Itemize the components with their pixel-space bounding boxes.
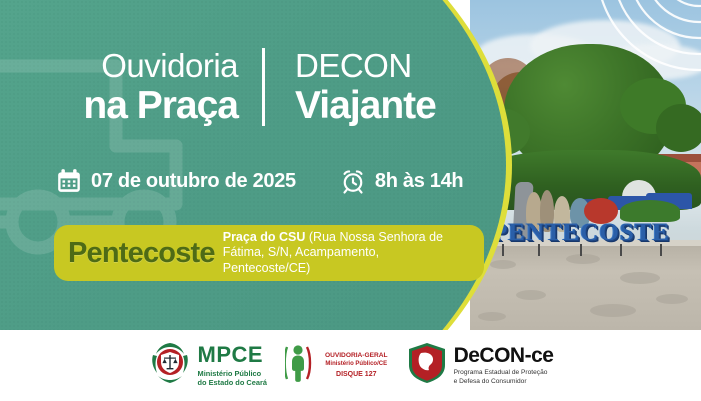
title-left-line1: Ouvidoria — [0, 49, 238, 82]
event-time-text: 8h às 14h — [375, 170, 463, 193]
decon-subtitle-line1: Programa Estadual de Proteção — [454, 369, 554, 378]
ouvidoria-logo-text: OUVIDORIA-GERAL Ministério Público/CE DI… — [325, 352, 388, 378]
calendar-icon — [56, 168, 82, 194]
title-right-line1: DECON — [295, 49, 436, 82]
ouvidoria-person-icon — [285, 343, 319, 388]
location-pill: Pentecoste Praça do CSU (Rua Nossa Senho… — [54, 225, 484, 281]
alarm-clock-icon — [340, 168, 366, 194]
ouvidoria-line3: DISQUE 127 — [325, 370, 388, 379]
ouvidoria-line2: Ministério Público/CE — [325, 361, 388, 369]
city-name: Pentecoste — [68, 237, 215, 270]
decon-ce-logo: DeCON-ce Programa Estadual de Proteção e… — [406, 341, 554, 390]
event-date: 07 de outubro de 2025 — [56, 168, 296, 194]
pentecoste-plaza-sign: PENTECOSTE — [492, 218, 682, 248]
mpce-subtitle-line2: do Estado do Ceará — [198, 378, 267, 387]
title-left-line2: na Praça — [0, 86, 238, 125]
mpce-subtitle-line1: Ministério Público — [198, 369, 267, 378]
title-block-left: Ouvidoria na Praça — [0, 49, 238, 125]
mpce-name: MPCE — [198, 342, 264, 367]
venue-address: Praça do CSU (Rua Nossa Senhora de Fátim… — [223, 230, 470, 277]
banner-titles: Ouvidoria na Praça DECON Viajante — [0, 48, 496, 126]
event-time: 8h às 14h — [340, 168, 463, 194]
event-banner: PENTECOSTE — [0, 0, 701, 401]
decon-name: DeCON-ce — [454, 344, 554, 367]
mpce-logo-text: MPCE Ministério Público do Estado do Cea… — [198, 344, 267, 388]
title-right-line2: Viajante — [295, 86, 436, 125]
pentecoste-sign-text: PENTECOSTE — [492, 218, 682, 248]
footer-logos: MPCE Ministério Público do Estado do Cea… — [0, 330, 701, 401]
venue-name: Praça do CSU — [223, 230, 306, 244]
title-block-right: DECON Viajante — [265, 49, 436, 125]
mpce-crest-icon — [148, 341, 192, 390]
ouvidoria-line1: OUVIDORIA-GERAL — [325, 352, 388, 361]
decon-logo-text: DeCON-ce Programa Estadual de Proteção e… — [454, 345, 554, 386]
event-info-row: 07 de outubro de 2025 — [56, 168, 463, 194]
decon-subtitle-line2: e Defesa do Consumidor — [454, 378, 554, 387]
green-panel: Ouvidoria na Praça DECON Viajante — [0, 0, 520, 330]
ouvidoria-geral-logo: OUVIDORIA-GERAL Ministério Público/CE DI… — [285, 343, 388, 388]
tree-foliage — [656, 104, 701, 152]
mpce-logo: MPCE Ministério Público do Estado do Cea… — [148, 341, 267, 390]
decon-shield-icon — [406, 341, 448, 390]
event-date-text: 07 de outubro de 2025 — [91, 170, 296, 193]
